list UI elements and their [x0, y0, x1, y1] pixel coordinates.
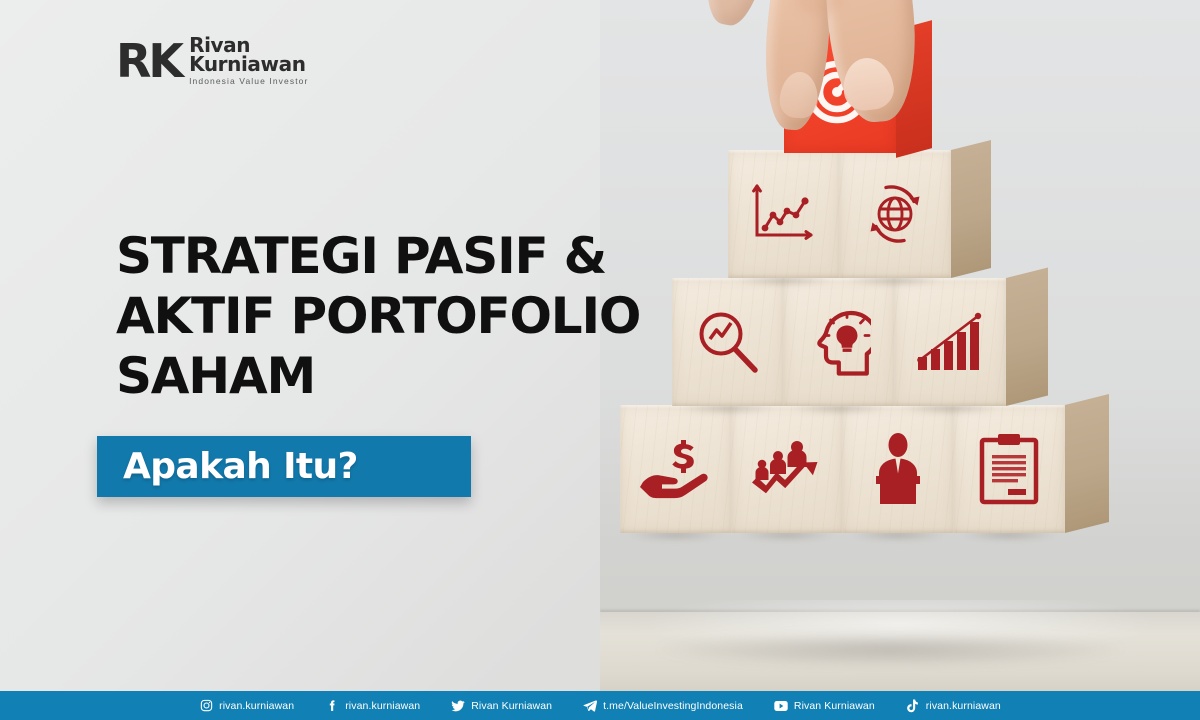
social-youtube[interactable]: Rivan Kurniawan	[774, 699, 875, 713]
tiktok-icon	[906, 699, 920, 713]
cube-clipboard	[953, 405, 1065, 533]
cube-hand-dollar	[620, 405, 732, 533]
logo-tagline: Indonesia Value Investor	[189, 77, 308, 85]
headline-line-2: AKTIF PORTOFOLIO	[116, 286, 756, 346]
cube-speaker-podium	[842, 405, 954, 533]
globe-refresh-icon	[862, 181, 928, 247]
clipboard-document-icon	[978, 432, 1040, 506]
page-title: STRATEGI PASIF & AKTIF PORTOFOLIO SAHAM	[116, 226, 756, 406]
facebook-icon	[325, 699, 339, 713]
social-label: t.me/ValueInvestingIndonesia	[603, 700, 743, 712]
poster-canvas: RK Rivan Kurniawan Indonesia Value Inves…	[0, 0, 1200, 720]
social-twitter[interactable]: Rivan Kurniawan	[451, 699, 552, 713]
instagram-icon	[199, 699, 213, 713]
social-instagram[interactable]: rivan.kurniawan	[199, 699, 294, 713]
social-label: Rivan Kurniawan	[794, 700, 875, 712]
headline-line-3: SAHAM	[116, 346, 756, 406]
growth-bar-chart-icon	[916, 312, 984, 372]
cube-head-lightbulb	[783, 278, 895, 406]
social-telegram[interactable]: t.me/ValueInvestingIndonesia	[583, 699, 743, 713]
brand-logo[interactable]: RK Rivan Kurniawan Indonesia Value Inves…	[116, 36, 308, 86]
social-tiktok[interactable]: rivan.kurniawan	[906, 699, 1001, 713]
hand-placing-cube	[600, 0, 1200, 180]
head-lightbulb-icon	[807, 307, 871, 377]
social-footer-bar: rivan.kurniawan rivan.kurniawan Rivan Ku…	[0, 691, 1200, 720]
cube-side	[1065, 394, 1109, 533]
speaker-podium-icon	[867, 433, 929, 505]
cube-growth-bars	[894, 278, 1006, 406]
social-label: Rivan Kurniawan	[471, 700, 552, 712]
twitter-icon	[451, 699, 465, 713]
logo-wordmark: Rivan Kurniawan Indonesia Value Investor	[189, 36, 308, 86]
social-label: rivan.kurniawan	[219, 700, 294, 712]
social-label: rivan.kurniawan	[926, 700, 1001, 712]
line-chart-icon	[751, 183, 817, 245]
headline-line-1: STRATEGI PASIF &	[116, 226, 756, 286]
people-growth-arrow-icon	[750, 438, 824, 500]
youtube-icon	[774, 699, 788, 713]
cube-stack-shadow	[655, 632, 1125, 666]
logo-monogram: RK	[116, 38, 181, 84]
cube-people-growth	[731, 405, 843, 533]
subtitle-text: Apakah Itu?	[123, 446, 358, 487]
social-facebook[interactable]: rivan.kurniawan	[325, 699, 420, 713]
cube-side	[1006, 268, 1048, 406]
logo-name-line2: Kurniawan	[189, 55, 308, 74]
social-label: rivan.kurniawan	[345, 700, 420, 712]
telegram-icon	[583, 699, 597, 713]
subtitle-banner: Apakah Itu?	[97, 436, 471, 497]
hand-dollar-icon	[640, 436, 712, 502]
